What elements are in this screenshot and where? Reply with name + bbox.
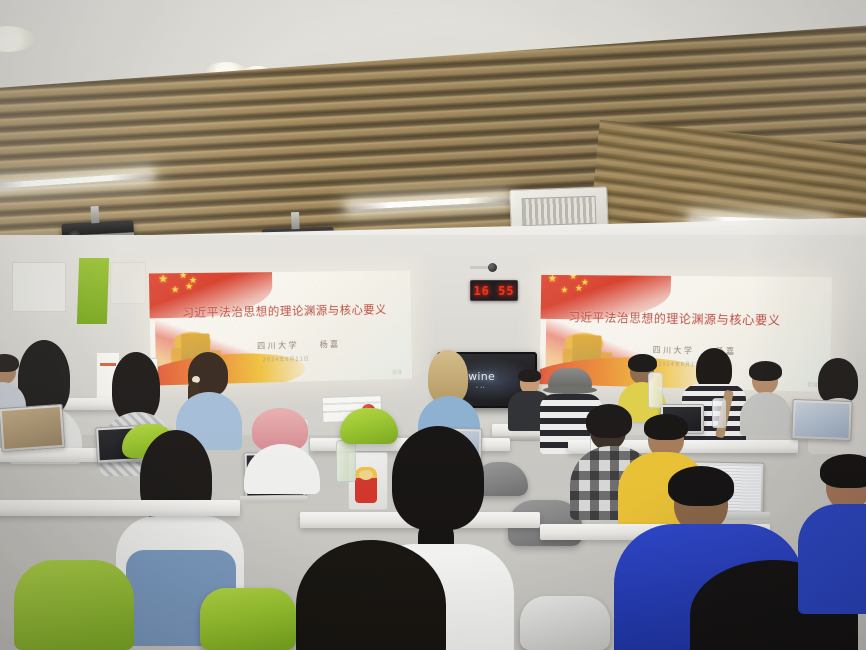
laptop-screen <box>794 402 849 438</box>
classroom-photo: 16 55 ★ ★ ★ ★ ★ 习近平法治思想的理论渊源与核心要义 四川大学 杨… <box>0 0 866 650</box>
torso <box>798 504 866 614</box>
hair <box>518 369 541 382</box>
water-bottle <box>648 372 663 408</box>
clock-time: 16 55 <box>473 284 514 298</box>
wall-panel <box>12 262 66 312</box>
mascot-figure <box>355 467 377 503</box>
hair <box>644 414 688 440</box>
chair[interactable] <box>200 588 296 650</box>
hair <box>586 404 632 438</box>
chair-white[interactable] <box>520 596 610 650</box>
hair <box>749 361 782 381</box>
tablet-stand <box>240 496 308 502</box>
hair <box>820 454 866 488</box>
display-sublabel: • •• <box>476 385 485 391</box>
hair <box>392 426 484 530</box>
chair-foreground-green[interactable] <box>14 560 134 650</box>
hat-brim <box>543 386 597 394</box>
desk-row-front-left <box>0 500 240 516</box>
water-bottle <box>712 398 726 428</box>
laptop-screen <box>2 407 63 449</box>
wall-led-clock[interactable]: 16 55 <box>470 280 518 301</box>
torso <box>740 392 792 436</box>
hair <box>628 354 657 372</box>
wall-panel <box>110 262 146 304</box>
water-bottle <box>336 440 356 482</box>
hair <box>668 466 734 506</box>
camera-icon <box>488 263 497 272</box>
laptop[interactable] <box>791 399 852 441</box>
laptop[interactable] <box>0 404 65 452</box>
green-accent-column <box>77 258 109 324</box>
